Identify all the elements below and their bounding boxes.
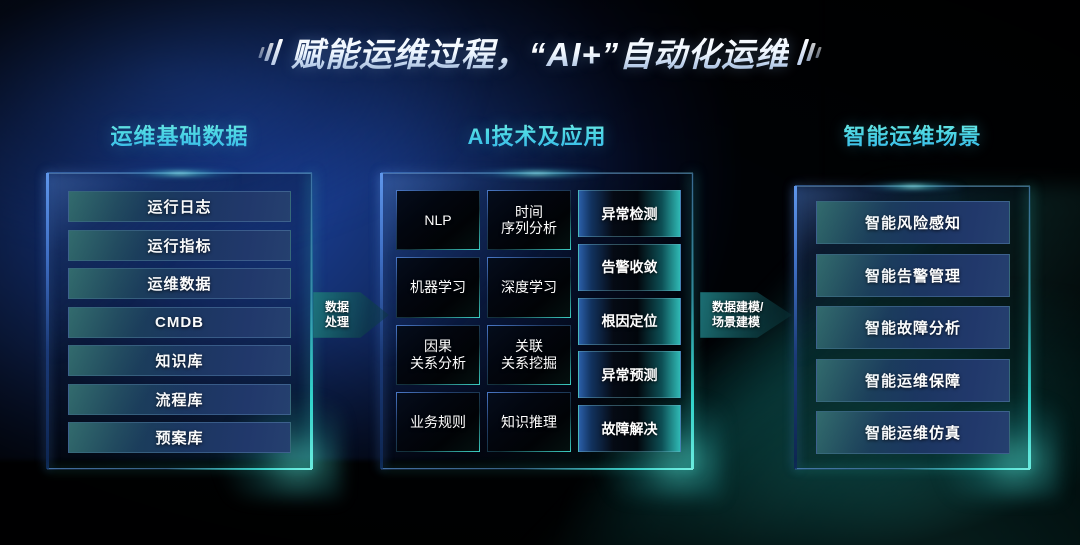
panel-edge-top: [381, 172, 693, 173]
list-item[interactable]: 智能故障分析: [816, 306, 1010, 349]
panel-edge-bottom: [795, 468, 1030, 470]
list-item[interactable]: 智能风险感知: [816, 201, 1010, 244]
ai-tech-grid: NLP 时间序列分析 机器学习 深度学习 因果关系分析 关联关系挖掘 业务规则 …: [396, 190, 571, 452]
application-card[interactable]: 根因定位: [578, 298, 681, 345]
panel-edge-left: [794, 186, 797, 469]
application-card[interactable]: 故障解决: [578, 405, 681, 452]
tech-card[interactable]: NLP: [396, 190, 480, 250]
list-item[interactable]: 运行指标: [68, 230, 291, 261]
list-item[interactable]: 运行日志: [68, 191, 291, 222]
list-item[interactable]: 知识库: [68, 345, 291, 376]
column-heading-scenarios: 智能运维场景: [795, 119, 1030, 151]
tech-card[interactable]: 业务规则: [396, 392, 480, 452]
arrow-label-line2: 场景建模: [712, 315, 763, 330]
list-item[interactable]: 运维数据: [68, 268, 291, 299]
panel-edge-left: [46, 173, 49, 469]
tech-card-line1: 因果: [410, 338, 466, 355]
arrow-data-modeling: 数据建模/ 场景建模: [700, 292, 792, 338]
panel-edge-top: [47, 172, 312, 173]
list-item[interactable]: 智能告警管理: [816, 254, 1010, 297]
tech-card-line2: 关系分析: [410, 355, 466, 372]
application-card[interactable]: 异常预测: [578, 351, 681, 398]
list-item[interactable]: CMDB: [68, 307, 291, 338]
slide-title-row: 赋能运维过程，“AI+”自动化运维: [0, 26, 1080, 78]
page-title: 赋能运维过程，“AI+”自动化运维: [291, 28, 789, 76]
base-data-list: 运行日志 运行指标 运维数据 CMDB 知识库 流程库 预案库: [68, 191, 291, 453]
tech-card[interactable]: 机器学习: [396, 257, 480, 317]
tech-card[interactable]: 因果关系分析: [396, 325, 480, 385]
arrow-label-line1: 数据: [325, 300, 349, 315]
arrow-label-line1: 数据建模/: [712, 300, 763, 315]
panel-edge-top: [795, 185, 1030, 186]
tech-card[interactable]: 关联关系挖掘: [487, 325, 571, 385]
application-card[interactable]: 异常检测: [578, 190, 681, 237]
column-heading-ai-tech: AI技术及应用: [381, 119, 693, 151]
list-item[interactable]: 智能运维保障: [816, 359, 1010, 402]
tech-card-line1: 关联: [501, 338, 557, 355]
tech-card-line2: 关系挖掘: [501, 355, 557, 372]
tech-card-line1: 业务规则: [410, 414, 466, 431]
arrow-data-processing: 数据 处理: [313, 292, 389, 338]
tech-card[interactable]: 深度学习: [487, 257, 571, 317]
panel-edge-right: [1028, 186, 1031, 469]
slash-deco-right-icon: [801, 35, 820, 69]
tech-card-line1: NLP: [424, 212, 451, 229]
list-item[interactable]: 智能运维仿真: [816, 411, 1010, 454]
tech-card-line1: 时间: [501, 204, 557, 221]
list-item[interactable]: 流程库: [68, 384, 291, 415]
application-card[interactable]: 告警收敛: [578, 244, 681, 291]
ai-application-list: 异常检测 告警收敛 根因定位 异常预测 故障解决: [578, 190, 681, 452]
tech-card-line1: 机器学习: [410, 279, 466, 296]
tech-card[interactable]: 知识推理: [487, 392, 571, 452]
panel-edge-right: [691, 173, 694, 469]
panel-edge-bottom: [381, 468, 693, 470]
scenario-list: 智能风险感知 智能告警管理 智能故障分析 智能运维保障 智能运维仿真: [816, 201, 1010, 454]
tech-card-line2: 序列分析: [501, 220, 557, 237]
tech-card[interactable]: 时间序列分析: [487, 190, 571, 250]
panel-edge-bottom: [47, 468, 312, 470]
column-heading-base-data: 运维基础数据: [47, 119, 312, 151]
list-item[interactable]: 预案库: [68, 422, 291, 453]
slash-deco-left-icon: [260, 35, 279, 69]
tech-card-line1: 知识推理: [501, 414, 557, 431]
arrow-label-line2: 处理: [325, 315, 349, 330]
tech-card-line1: 深度学习: [501, 279, 557, 296]
